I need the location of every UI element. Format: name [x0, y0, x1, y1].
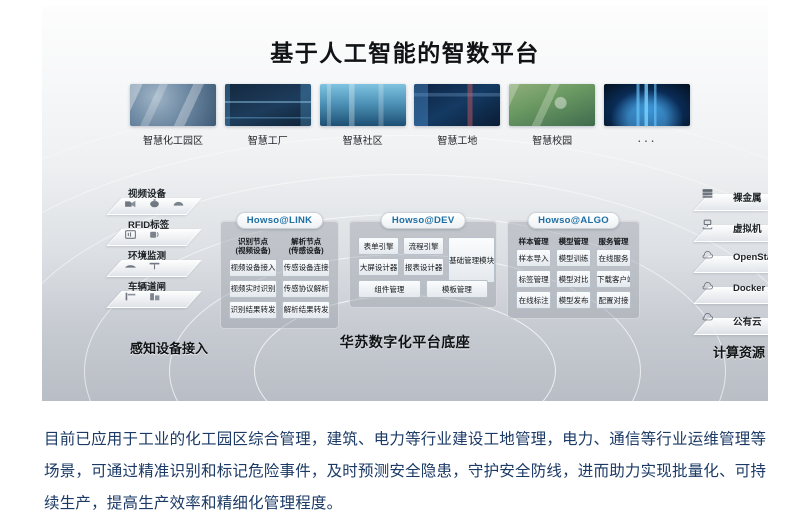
rail-item-bare-metal[interactable]: 裸金属	[697, 184, 768, 215]
rfid-tag-icon	[124, 229, 137, 240]
algo-column-service: 服务管理 在线服务 下载客户端 配置对接	[596, 237, 631, 309]
chip-item[interactable]: 解析结果转发	[282, 301, 330, 319]
cloud-icon	[701, 250, 714, 261]
chip-item[interactable]: 样本导入	[516, 249, 551, 267]
rail-item-vehicle-barrier[interactable]: 车辆道闸	[114, 281, 234, 312]
rail-item-label: 公有云	[733, 314, 762, 328]
rail-icon-group	[701, 250, 714, 261]
column-title: 模型管理	[556, 237, 591, 246]
diagram-title: 基于人工智能的智数平台	[42, 34, 768, 68]
chip-item[interactable]: 识别结果转发	[229, 301, 277, 319]
column-title: 解析节点 (传感设备)	[282, 237, 330, 256]
algo-column-sample: 样本管理 样本导入 标签管理 在线标注	[516, 237, 551, 309]
chemical-park-thumbnail	[130, 84, 216, 126]
scenario-label: ···	[604, 132, 690, 148]
rail-item-rfid-tag[interactable]: RFID标签	[114, 219, 234, 250]
column-title-line2: (传感设备)	[289, 246, 324, 255]
panel-badge-link: Howso@LINK	[236, 212, 324, 229]
column-title-line2: (视频设备)	[236, 246, 271, 255]
panel-howso-link[interactable]: Howso@LINK 识别节点 (视频设备) 视频设备接入 视频实时识别 识别结…	[220, 220, 339, 329]
column-title-line1: 识别节点	[238, 237, 268, 246]
rail-item-openstack[interactable]: OpenStack	[697, 246, 768, 277]
smart-community-thumbnail	[320, 84, 406, 126]
chip-item[interactable]: 模型发布	[556, 291, 591, 309]
smart-campus-thumbnail	[509, 84, 595, 126]
chip-item[interactable]: 模型对比	[556, 270, 591, 288]
scenario-item-smart-community[interactable]: 智慧社区	[320, 84, 406, 148]
chip-item[interactable]: 传感协议解析	[282, 280, 330, 298]
chip-item[interactable]: 下载客户端	[596, 270, 631, 288]
scenario-label: 智慧校园	[509, 132, 595, 147]
chip-item[interactable]: 模板管理	[426, 280, 489, 298]
scenario-label: 智慧工地	[414, 132, 500, 147]
rail-icon-group	[701, 281, 714, 292]
chip-item[interactable]: 标签管理	[516, 270, 551, 288]
platform-panels: Howso@LINK 识别节点 (视频设备) 视频设备接入 视频实时识别 识别结…	[220, 220, 640, 329]
rail-icon-group	[124, 260, 161, 271]
chip-item[interactable]: 流程引擎	[403, 237, 444, 255]
sensing-devices-rail: 视频设备 RFID标签	[114, 188, 234, 312]
cloud-icon	[701, 312, 714, 323]
column-title: 识别节点 (视频设备)	[229, 237, 277, 256]
rail-item-environment-monitor[interactable]: 环境监测	[114, 250, 234, 281]
rail-icon-group	[701, 312, 714, 323]
dev-bottom-row: 组件管理 模板管理	[358, 280, 488, 298]
rail-item-label: 虚拟机	[733, 221, 762, 235]
scenario-label: 智慧社区	[320, 132, 406, 147]
rail-item-docker[interactable]: Docker	[697, 277, 768, 308]
gate-controller-icon	[148, 291, 161, 302]
server-rack-icon	[701, 188, 714, 199]
scenario-item-smart-factory[interactable]: 智慧工厂	[225, 84, 311, 148]
scenario-thumbnail-row: 智慧化工园区 智慧工厂 智慧社区 智慧工地 智慧校园 ···	[130, 84, 690, 148]
platform-base-label: 华苏数字化平台底座	[42, 332, 768, 352]
sensor-dome-icon	[172, 198, 185, 209]
scenario-item-smart-campus[interactable]: 智慧校园	[509, 84, 595, 148]
chip-item[interactable]: 组件管理	[358, 280, 421, 298]
panel-badge-algo: Howso@ALGO	[527, 212, 620, 229]
chip-item[interactable]: 表单引擎	[358, 237, 399, 255]
cloud-icon	[701, 281, 714, 292]
rfid-reader-icon	[148, 229, 161, 240]
chip-item[interactable]: 传感设备连接	[282, 259, 330, 277]
smart-construction-site-thumbnail	[414, 84, 500, 126]
rail-icon-group	[701, 188, 714, 199]
vehicle-barrier-icon	[124, 291, 137, 302]
rail-item-label: 裸金属	[733, 190, 762, 204]
scenario-label: 智慧工厂	[225, 132, 311, 147]
link-column-recognition: 识别节点 (视频设备) 视频设备接入 视频实时识别 识别结果转发	[229, 237, 277, 319]
panel-howso-dev[interactable]: Howso@DEV 表单引擎 大屏设计器 流程引擎 报表设计器	[349, 220, 497, 308]
chip-item[interactable]: 模型训练	[556, 249, 591, 267]
column-title: 样本管理	[516, 237, 551, 246]
link-column-parsing: 解析节点 (传感设备) 传感设备连接 传感协议解析 解析结果转发	[282, 237, 330, 319]
virtual-machine-icon	[701, 219, 714, 230]
scenario-item-more[interactable]: ···	[604, 84, 690, 148]
algo-column-model: 模型管理 模型训练 模型对比 模型发布	[556, 237, 591, 309]
chip-item[interactable]: 配置对接	[596, 291, 631, 309]
chip-item[interactable]: 在线服务	[596, 249, 631, 267]
dome-camera-icon	[148, 198, 161, 209]
camera-icon	[124, 198, 137, 209]
rail-icon-group	[124, 291, 161, 302]
scenario-item-chemical-park[interactable]: 智慧化工园区	[130, 84, 216, 148]
weather-station-icon	[148, 260, 161, 271]
rail-item-label: OpenStack	[733, 252, 768, 263]
environment-sensor-icon	[124, 260, 137, 271]
chip-item[interactable]: 大屏设计器	[358, 258, 399, 276]
rail-icon-group	[124, 198, 185, 209]
chip-item[interactable]: 报表设计器	[403, 258, 444, 276]
computing-resources-rail: 裸金属 虚拟机 OpenStack	[697, 184, 768, 339]
dev-engine-grid: 表单引擎 大屏设计器 流程引擎 报表设计器	[358, 237, 444, 276]
column-title: 服务管理	[596, 237, 631, 246]
chip-item[interactable]: 基础管理模块	[448, 237, 495, 283]
rail-item-video-device[interactable]: 视频设备	[114, 188, 234, 219]
chip-item[interactable]: 在线标注	[516, 291, 551, 309]
rail-icon-group	[701, 219, 714, 230]
rail-item-virtual-machine[interactable]: 虚拟机	[697, 215, 768, 246]
article-paragraph: 目前已应用于工业的化工园区综合管理，建筑、电力等行业建设工地管理，电力、通信等行…	[44, 424, 774, 520]
rail-icon-group	[124, 229, 161, 240]
chip-item[interactable]: 视频实时识别	[229, 280, 277, 298]
more-scenarios-thumbnail	[604, 84, 690, 126]
dev-side-module: 基础管理模块	[448, 237, 495, 276]
architecture-diagram-card: 基于人工智能的智数平台 智慧化工园区 智慧工厂 智慧社区 智慧工地 智慧校园 ·…	[42, 6, 768, 401]
scenario-item-construction-site[interactable]: 智慧工地	[414, 84, 500, 148]
scenario-label: 智慧化工园区	[130, 132, 216, 147]
panel-badge-dev: Howso@DEV	[381, 212, 466, 229]
column-title-line1: 解析节点	[291, 237, 321, 246]
chip-item[interactable]: 视频设备接入	[229, 259, 277, 277]
rail-item-label: Docker	[733, 283, 765, 294]
panel-howso-algo[interactable]: Howso@ALGO 样本管理 样本导入 标签管理 在线标注 模型管理 模型训练…	[507, 220, 640, 319]
smart-factory-thumbnail	[225, 84, 311, 126]
